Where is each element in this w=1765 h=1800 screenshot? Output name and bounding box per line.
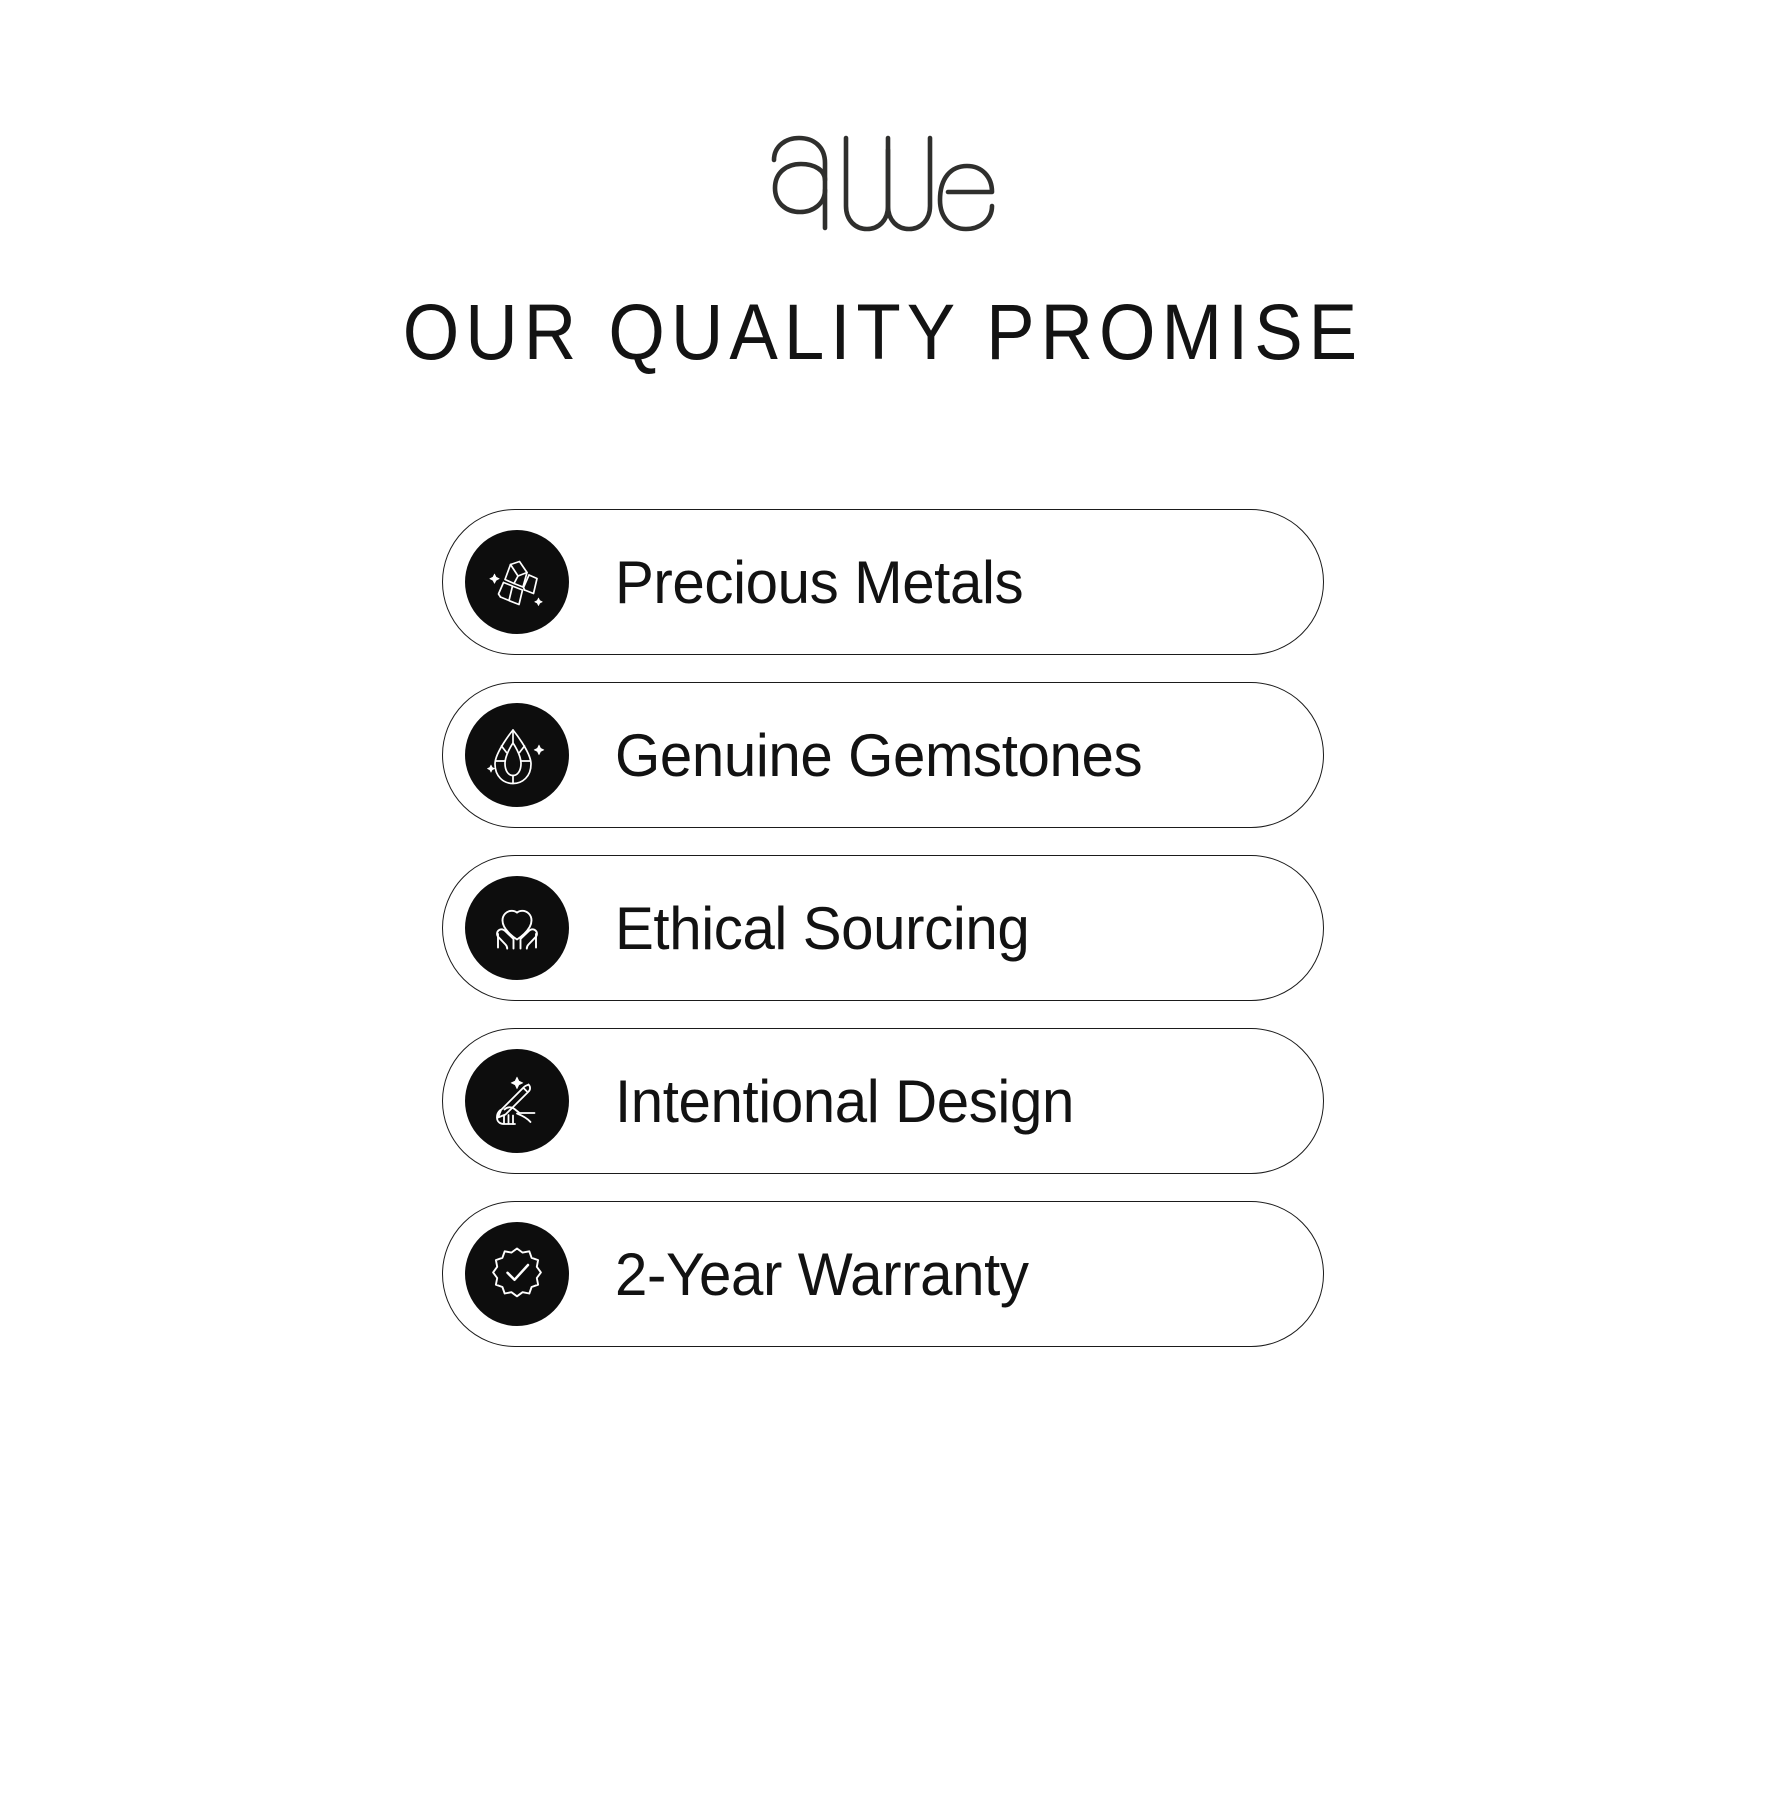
promise-list: Precious Metals [442,509,1324,1347]
promise-row-warranty[interactable]: 2-Year Warranty [442,1201,1324,1347]
brand-logo [768,128,998,232]
icon-badge [465,703,569,807]
promise-label: 2-Year Warranty [615,1240,1029,1309]
promise-row-intentional-design[interactable]: Intentional Design [442,1028,1324,1174]
badge-check-icon [483,1240,551,1308]
promise-row-precious-metals[interactable]: Precious Metals [442,509,1324,655]
gemstone-icon [483,721,551,789]
promise-label: Precious Metals [615,548,1023,617]
promise-label: Intentional Design [615,1067,1074,1136]
icon-badge [465,1049,569,1153]
page-title: OUR QUALITY PROMISE [402,292,1362,371]
awe-wordmark-icon [768,128,998,232]
hand-pen-icon [483,1067,551,1135]
promise-row-genuine-gemstones[interactable]: Genuine Gemstones [442,682,1324,828]
promise-row-ethical-sourcing[interactable]: Ethical Sourcing [442,855,1324,1001]
icon-badge [465,876,569,980]
hands-heart-icon [483,894,551,962]
icon-badge [465,1222,569,1326]
quality-promise-page: OUR QUALITY PROMISE [0,0,1765,1800]
promise-label: Genuine Gemstones [615,721,1142,790]
icon-badge [465,530,569,634]
promise-label: Ethical Sourcing [615,894,1029,963]
gold-bars-icon [483,548,551,616]
